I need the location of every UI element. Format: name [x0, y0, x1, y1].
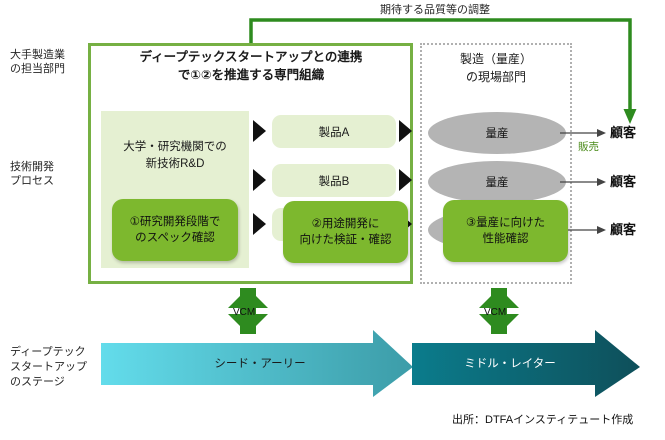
stage-arrows-svg — [0, 0, 665, 440]
vcm-label-2: VCM — [484, 307, 506, 318]
stage-label-middle: ミドル・レイター — [430, 357, 590, 371]
stage-label-seed: シード・アーリー — [175, 357, 345, 371]
vcm-label-1: VCM — [233, 307, 255, 318]
